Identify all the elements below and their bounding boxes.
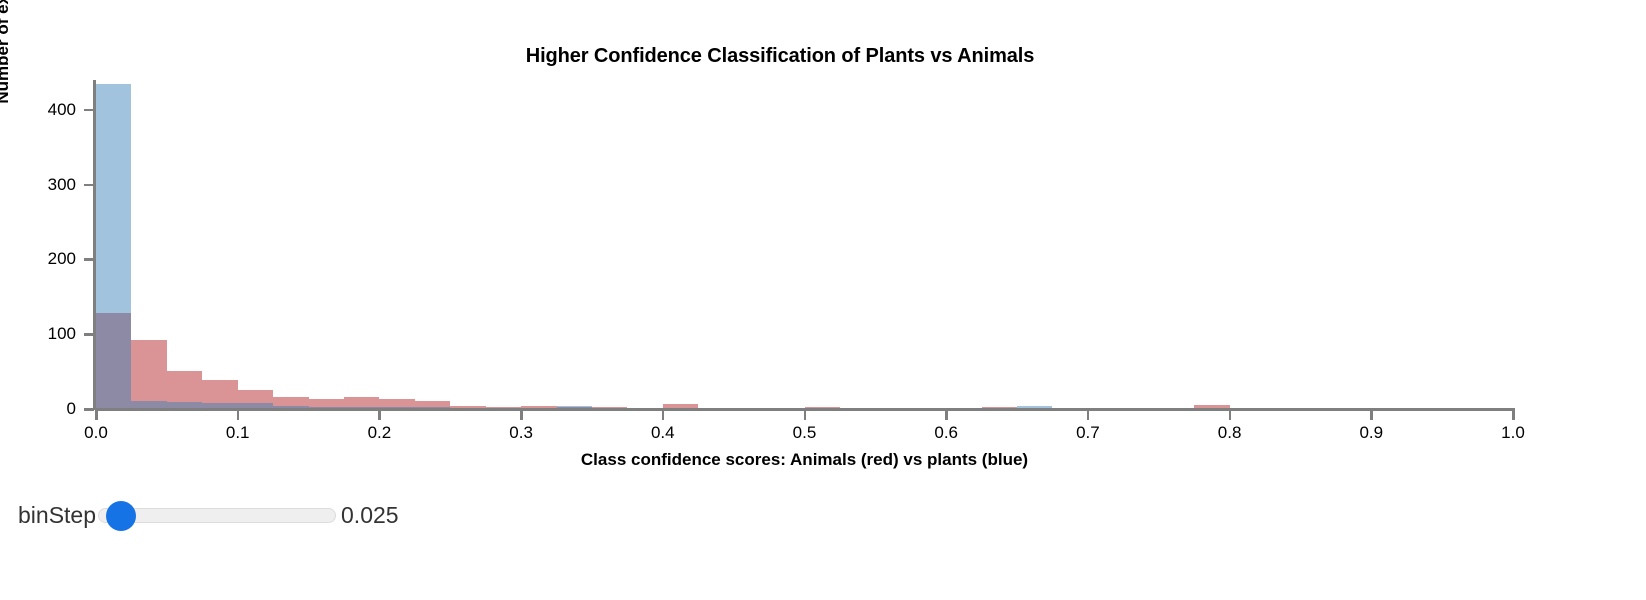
y-tick-label: 400 [16,101,76,118]
x-tick-mark [237,410,240,420]
x-tick-mark [1087,410,1090,420]
y-tick-mark [84,184,94,187]
histogram-bar-animals [131,340,166,401]
x-tick-label: 0.8 [1195,423,1265,442]
x-tick-mark [945,410,948,420]
bin-step-slider[interactable] [98,504,336,526]
y-tick-label: 200 [16,250,76,267]
histogram-chart: Higher Confidence Classification of Plan… [0,0,1646,482]
x-tick-label: 1.0 [1478,423,1548,442]
x-tick-label: 0.6 [911,423,981,442]
x-axis-label: Class confidence scores: Animals (red) v… [96,450,1513,470]
histogram-bar-overlap [96,313,131,409]
bars-layer [96,80,1513,409]
x-tick-mark [520,410,523,420]
histogram-bar-animals [379,399,414,406]
x-tick-label: 0.2 [344,423,414,442]
bin-step-slider-widget[interactable]: binStep 0.025 [18,495,399,535]
y-tick-mark [84,333,94,336]
x-tick-mark [804,410,807,420]
histogram-bar-plants [96,84,131,314]
y-tick-mark [84,109,94,112]
histogram-bar-animals [309,399,344,407]
y-tick-label: 0 [16,400,76,417]
histogram-bar-animals [167,371,202,402]
histogram-bar-animals [273,397,308,406]
y-axis-spine [93,80,96,410]
bin-step-slider-value: 0.025 [341,504,399,527]
x-tick-mark [1512,410,1515,420]
x-tick-label: 0.9 [1336,423,1406,442]
x-tick-label: 0.7 [1053,423,1123,442]
x-tick-mark [1229,410,1232,420]
histogram-bar-animals [202,380,237,403]
x-tick-label: 0.5 [770,423,840,442]
x-tick-label: 0.1 [203,423,273,442]
slider-thumb[interactable] [106,501,136,531]
x-tick-label: 0.3 [486,423,556,442]
visualization-page: Higher Confidence Classification of Plan… [0,0,1646,600]
chart-title: Higher Confidence Classification of Plan… [0,45,1560,68]
plot-area [96,80,1513,409]
x-tick-mark [95,410,98,420]
y-tick-label: 300 [16,176,76,193]
x-tick-label: 0.0 [61,423,131,442]
x-tick-mark [1370,410,1373,420]
y-axis-label: Number of examples [0,0,13,140]
bin-step-slider-label: binStep [18,504,96,527]
histogram-bar-animals [238,390,273,403]
x-tick-label: 0.4 [628,423,698,442]
x-tick-mark [662,410,665,420]
x-tick-mark [378,410,381,420]
y-tick-mark [84,258,94,261]
y-tick-mark [84,408,94,411]
y-tick-label: 100 [16,325,76,342]
histogram-bar-animals [344,397,379,407]
